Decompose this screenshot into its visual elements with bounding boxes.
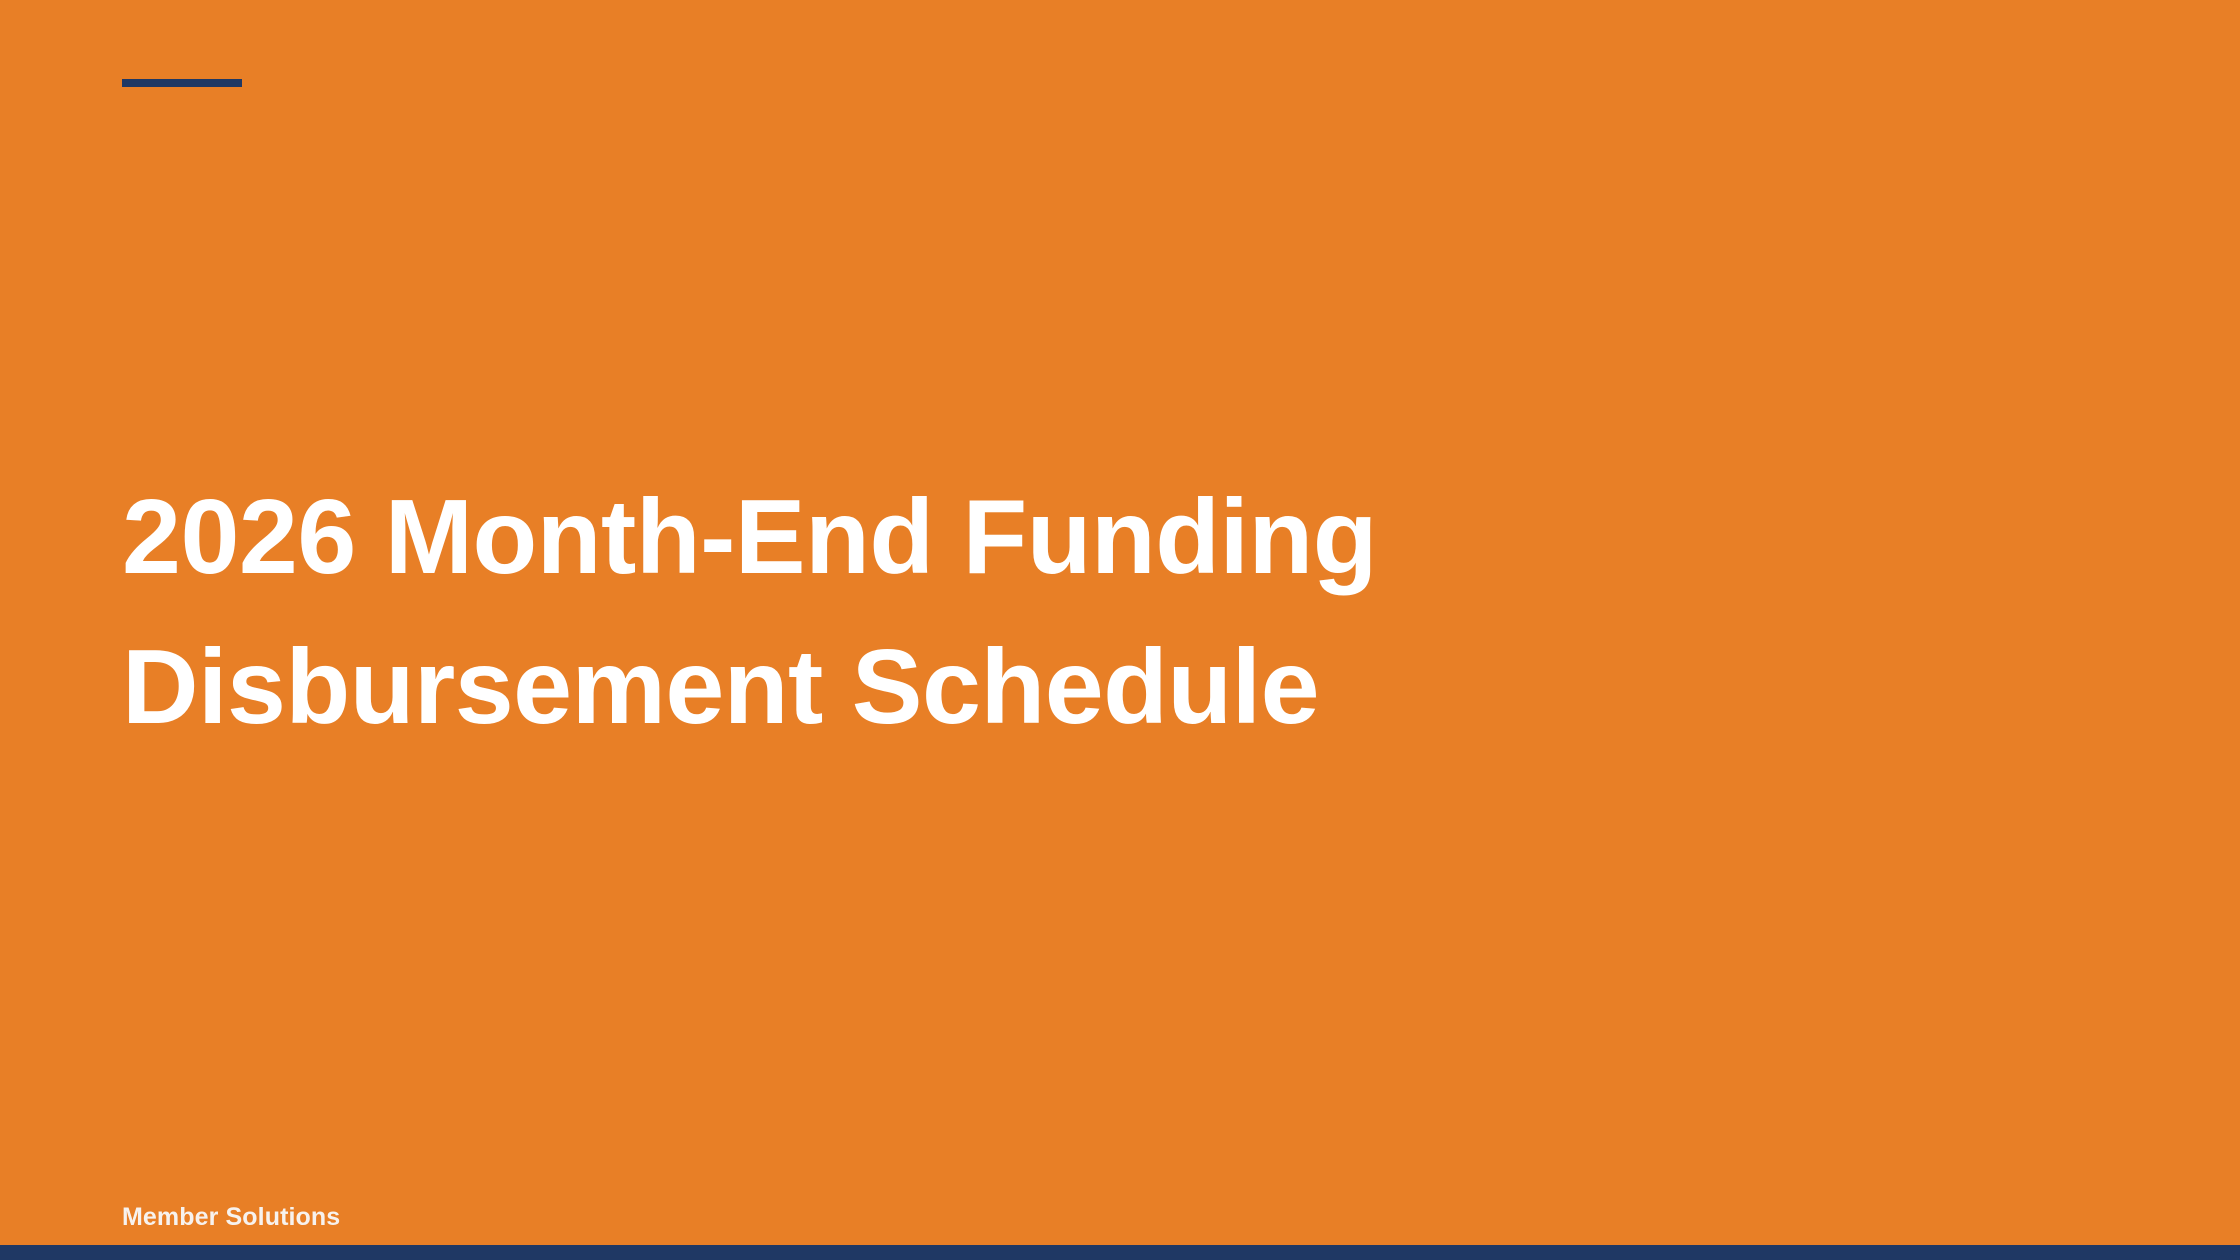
footer-label: Member Solutions [122,1202,340,1232]
bottom-accent-bar [0,1245,2240,1260]
accent-rule [122,79,242,87]
page-title: 2026 Month-End Funding Disbursement Sche… [122,462,1622,762]
title-block: 2026 Month-End Funding Disbursement Sche… [122,462,1622,762]
title-slide: 2026 Month-End Funding Disbursement Sche… [0,0,2240,1260]
